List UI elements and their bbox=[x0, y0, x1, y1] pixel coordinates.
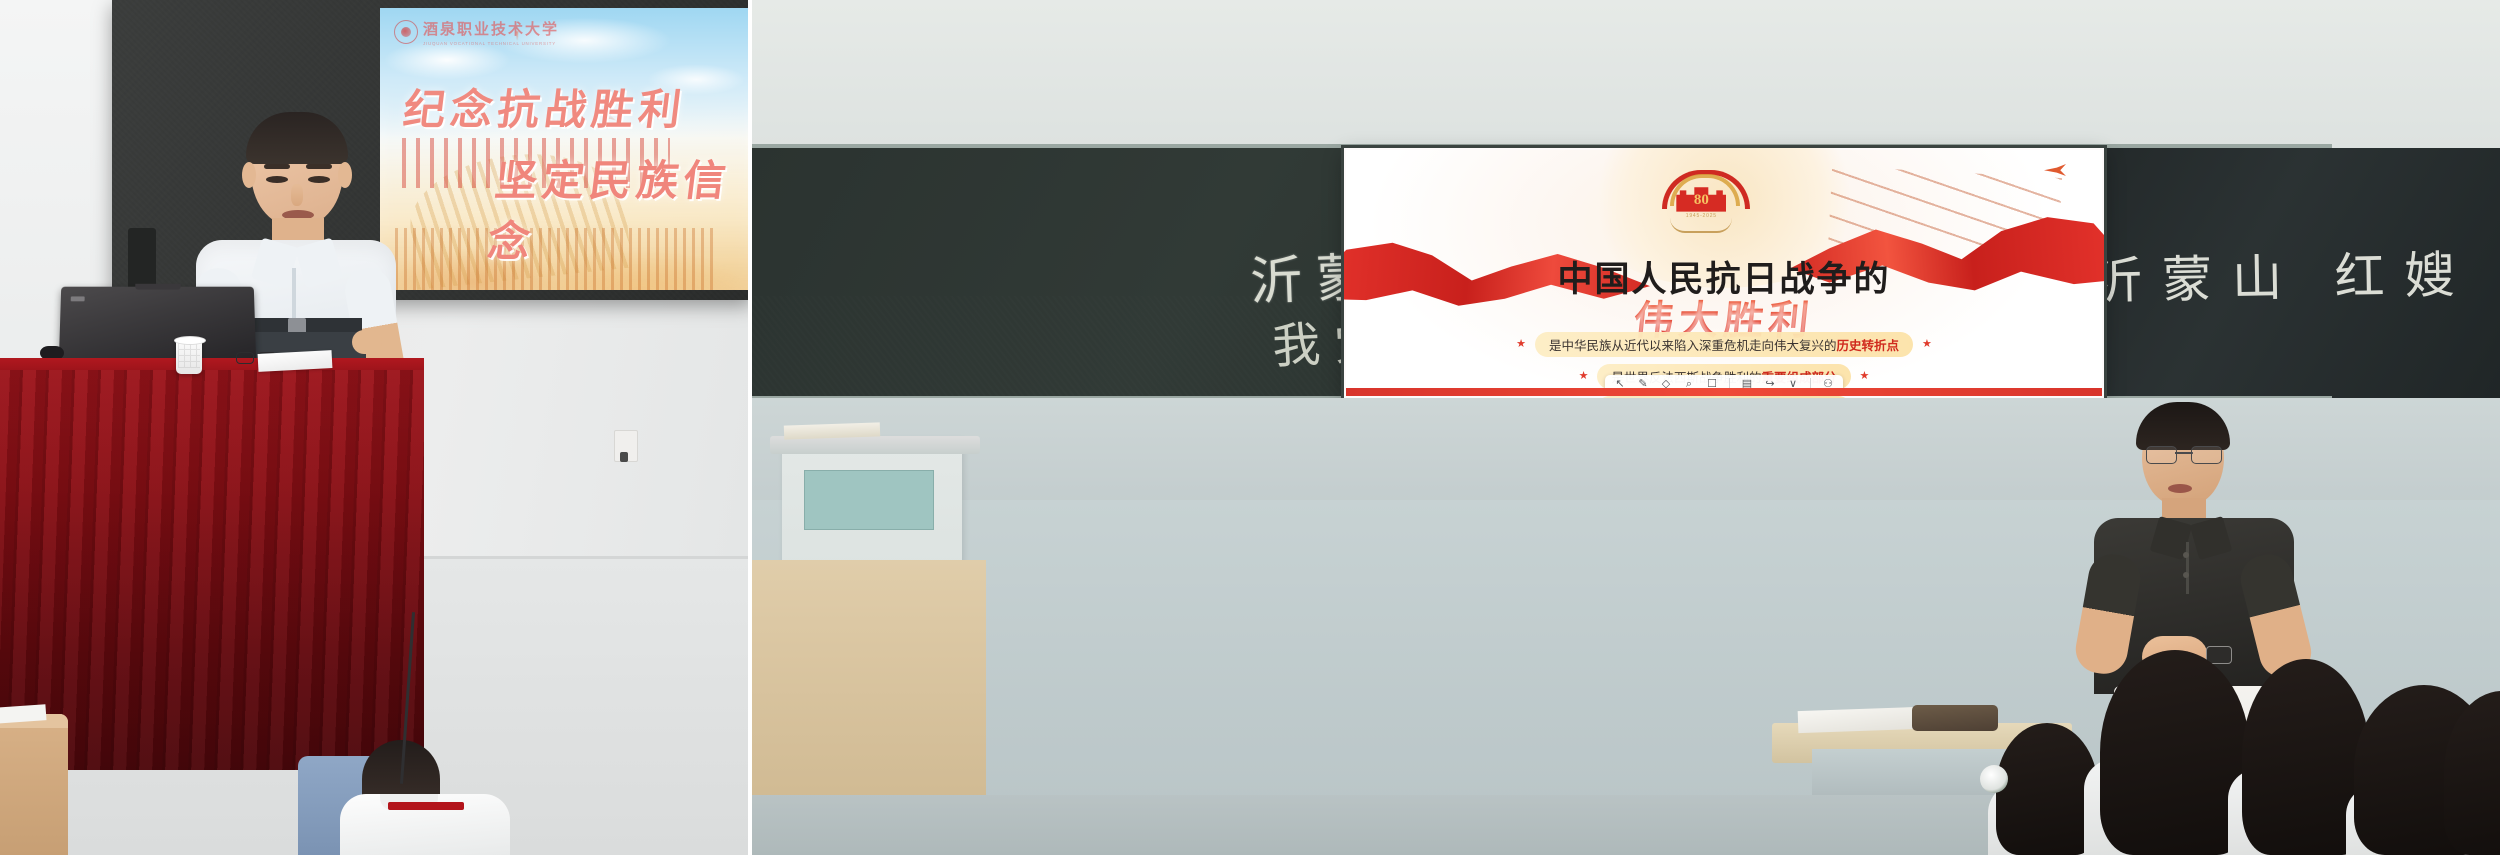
star-icon: ★ bbox=[1516, 339, 1526, 350]
table-red-cloth bbox=[0, 370, 424, 770]
university-logo: 酒泉职业技术大学 JIUQUAN VOCATIONAL TECHNICAL UN… bbox=[394, 18, 559, 46]
glasses-bridge bbox=[2175, 452, 2193, 454]
students-foreground bbox=[1992, 625, 2500, 855]
hair-scrunchie bbox=[1980, 765, 2008, 793]
presenter-nose bbox=[291, 184, 303, 206]
presenter-ear-right bbox=[338, 162, 352, 188]
wall-socket-plug-icon bbox=[620, 452, 628, 462]
presenter-hair bbox=[246, 112, 348, 164]
panel-divider bbox=[748, 0, 752, 855]
emblem-laurel-icon bbox=[1670, 218, 1732, 233]
composite-image: 酒泉职业技术大学 JIUQUAN VOCATIONAL TECHNICAL UN… bbox=[0, 0, 2500, 855]
presenter-eye-right bbox=[308, 176, 330, 183]
student-hair bbox=[2444, 691, 2500, 855]
paper-cup-rim bbox=[174, 336, 206, 345]
laptop-webcam-notch bbox=[135, 284, 180, 290]
paper-cup-pattern bbox=[178, 342, 200, 368]
student-uniform-stripe bbox=[388, 802, 464, 810]
presenter-eye-left bbox=[266, 176, 288, 183]
student-foreground bbox=[340, 740, 510, 855]
projection-screen: 酒泉职业技术大学 JIUQUAN VOCATIONAL TECHNICAL UN… bbox=[380, 8, 748, 290]
emblem-number: 80 bbox=[1694, 192, 1709, 209]
glasses-icon bbox=[2146, 446, 2222, 462]
star-icon: ★ bbox=[1579, 371, 1589, 382]
teacher-hair bbox=[2136, 402, 2230, 450]
right-photo-panel: 沂蒙颂 我党 陶家 沂蒙山 红嫂 80 1945-2025 中国人民抗日战争的 bbox=[752, 0, 2500, 855]
teacher-shirt-placket bbox=[2186, 542, 2189, 594]
presenter-brow-left bbox=[264, 164, 290, 169]
slide-title-line1: 纪念抗战胜利 bbox=[380, 76, 748, 137]
paper-stack bbox=[1798, 707, 1919, 733]
chalk-text-right: 沂蒙山 红嫂 bbox=[2091, 235, 2475, 314]
star-icon: ★ bbox=[1922, 339, 1932, 350]
interactive-display[interactable]: 80 1945-2025 中国人民抗日战争的 伟大胜利 ★ 是中华民族从近代以来… bbox=[1344, 148, 2104, 398]
wall-upper-band bbox=[752, 0, 2500, 150]
blackboard-mount bbox=[128, 228, 156, 290]
airplane-icon bbox=[2044, 164, 2066, 176]
display-slide: 80 1945-2025 中国人民抗日战争的 伟大胜利 ★ 是中华民族从近代以来… bbox=[1346, 150, 2102, 396]
student-hair bbox=[1996, 723, 2098, 855]
teacher-shirt-button bbox=[2183, 552, 2189, 558]
bullet-highlight: 历史转折点 bbox=[1837, 339, 1900, 353]
bullet-pill: 是中华民族从近代以来陷入深重危机走向伟大复兴的历史转折点 bbox=[1535, 332, 1913, 357]
bullet-row: ★ 是中华民族从近代以来陷入深重危机走向伟大复兴的历史转折点 ★ bbox=[1346, 332, 2102, 357]
university-seal-icon bbox=[394, 20, 418, 44]
table-cloth-folds bbox=[0, 370, 424, 770]
left-photo-panel: 酒泉职业技术大学 JIUQUAN VOCATIONAL TECHNICAL UN… bbox=[0, 0, 748, 855]
foreground-desk bbox=[0, 714, 68, 855]
star-icon: ★ bbox=[1860, 371, 1870, 382]
anniversary-emblem: 80 1945-2025 bbox=[1658, 170, 1744, 232]
university-name-cn: 酒泉职业技术大学 bbox=[423, 18, 559, 39]
university-name-en: JIUQUAN VOCATIONAL TECHNICAL UNIVERSITY bbox=[423, 41, 559, 46]
slide-title-line2: 坚定民族信念 bbox=[380, 147, 748, 269]
podium-control-panel[interactable] bbox=[804, 470, 934, 530]
teacher-shirt-button bbox=[2183, 572, 2189, 578]
teacher-mouth bbox=[2168, 484, 2192, 493]
bullet-text: 是中华民族从近代以来陷入深重危机走向伟大复兴的 bbox=[1549, 339, 1837, 353]
display-bottom-red-bar bbox=[1346, 388, 2102, 396]
student-seat bbox=[2444, 687, 2500, 855]
presenter-brow-right bbox=[306, 164, 332, 169]
presenter-ear-left bbox=[242, 162, 256, 188]
bag bbox=[1912, 705, 1998, 731]
slide-title-block: 纪念抗战胜利 坚定民族信念 bbox=[380, 76, 748, 269]
laptop bbox=[59, 287, 257, 365]
presenter-hand-on-table bbox=[352, 330, 382, 354]
laptop-logo bbox=[71, 296, 85, 301]
